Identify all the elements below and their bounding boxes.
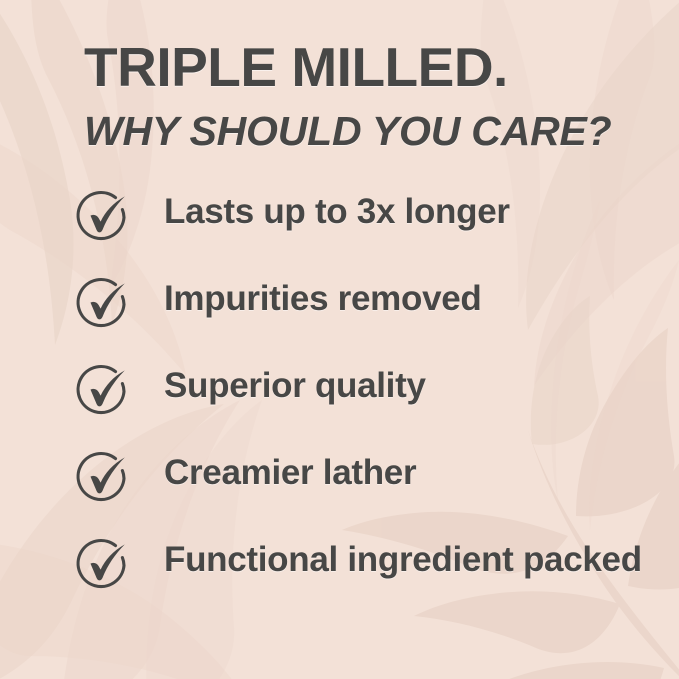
list-item-label: Functional ingredient packed [164, 534, 664, 582]
list-item-label: Creamier lather [164, 447, 664, 495]
poster-content: TRIPLE MILLED. WHY SHOULD YOU CARE? Last… [0, 0, 679, 679]
check-circle-icon [74, 535, 132, 593]
check-circle-icon [74, 274, 132, 332]
list-item: Impurities removed [74, 273, 664, 360]
list-item-label: Lasts up to 3x longer [164, 186, 664, 234]
list-item: Creamier lather [74, 447, 664, 534]
list-item-label: Impurities removed [164, 273, 664, 321]
check-circle-icon [74, 361, 132, 419]
check-circle-icon [74, 187, 132, 245]
list-item: Functional ingredient packed [74, 534, 664, 621]
list-item-label: Superior quality [164, 360, 664, 408]
benefit-list: Lasts up to 3x longer Impurities removed… [74, 186, 664, 621]
page-subtitle: WHY SHOULD YOU CARE? [84, 111, 654, 152]
headline-block: TRIPLE MILLED. WHY SHOULD YOU CARE? [84, 40, 654, 152]
list-item: Superior quality [74, 360, 664, 447]
infographic-poster: TRIPLE MILLED. WHY SHOULD YOU CARE? Last… [0, 0, 679, 679]
list-item: Lasts up to 3x longer [74, 186, 664, 273]
check-circle-icon [74, 448, 132, 506]
page-title: TRIPLE MILLED. [84, 40, 654, 95]
